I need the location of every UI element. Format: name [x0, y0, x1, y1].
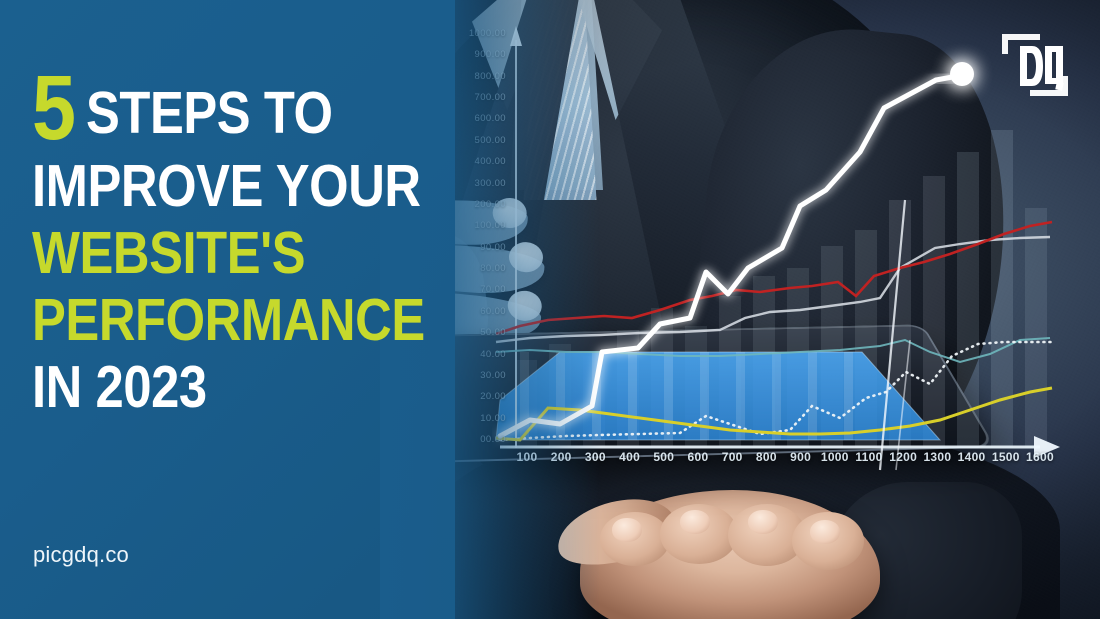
open-hand-holding-tablet — [560, 482, 920, 619]
website-url[interactable]: picgdq.co — [33, 542, 129, 568]
headline-line-1-text: STEPS TO — [86, 87, 333, 140]
poster-canvas: 1000.00900.00800.00700.00600.00500.00400… — [0, 0, 1100, 619]
fingernail-4 — [810, 520, 840, 544]
headline-line-2: IMPROVE YOUR — [32, 160, 452, 213]
headline-number: 5 — [32, 72, 73, 146]
fingernail-1 — [612, 518, 642, 542]
headline-line-1: 5STEPS TO — [32, 72, 452, 146]
logo-letter-d — [1020, 46, 1043, 86]
dq-monogram-logo[interactable] — [998, 28, 1072, 102]
headline-line-5-text: IN 2023 — [32, 361, 207, 414]
headline-line-3-text: WEBSITE'S — [32, 227, 305, 280]
fingernail-3 — [748, 510, 778, 534]
headline-line-5: IN 2023 — [32, 361, 452, 414]
headline-line-4-text: PERFORMANCE — [32, 294, 425, 347]
headline-line-2-text: IMPROVE YOUR — [32, 160, 421, 213]
page-title: 5STEPS TO IMPROVE YOUR WEBSITE'S PERFORM… — [32, 72, 452, 414]
headline-line-4: PERFORMANCE — [32, 294, 452, 347]
fingernail-2 — [680, 510, 710, 534]
headline-line-3: WEBSITE'S — [32, 227, 452, 280]
